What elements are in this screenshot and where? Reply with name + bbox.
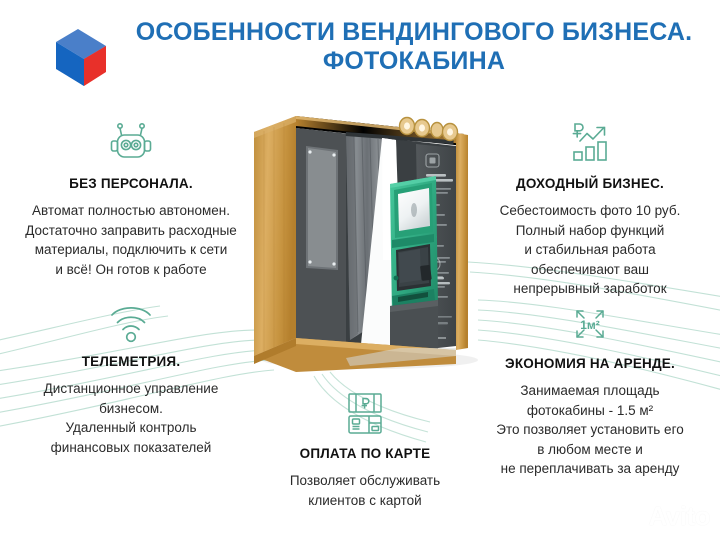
feature-body-line: и всё! Он готов к работе: [6, 260, 256, 280]
feature-body-line: материалы, подключить к сети: [6, 240, 256, 260]
avito-watermark-text: Avito: [648, 501, 710, 532]
feature-body-line: Полный набор функций: [466, 221, 714, 241]
area-arrows-icon: 1м²: [466, 298, 714, 346]
feature-body: Занимаемая площадь фотокабины - 1.5 м² Э…: [466, 381, 714, 479]
company-logo: [44, 26, 118, 92]
feature-body-line: Дистанционное управление: [6, 379, 256, 399]
feature-body-line: фотокабины - 1.5 м²: [466, 401, 714, 421]
feature-body-line: Удаленный контроль: [6, 418, 256, 438]
title-line-1: ОСОБЕННОСТИ ВЕНДИНГОВОГО БИЗНЕСА.: [126, 18, 702, 47]
feature-body-line: финансовых показателей: [6, 438, 256, 458]
feature-body-line: Себестоимость фото 10 руб.: [466, 201, 714, 221]
feature-body-line: Занимаемая площадь: [466, 381, 714, 401]
feature-block-rent: 1м² ЭКОНОМИЯ НА АРЕНДЕ. Занимаемая площа…: [466, 298, 714, 479]
card-terminal-icon: [247, 388, 483, 436]
feature-body-line: Это позволяет установить его: [466, 420, 714, 440]
photo-booth-illustration: [250, 110, 482, 372]
avito-logo-icon: [619, 506, 643, 528]
robot-icon: [6, 118, 256, 166]
feature-body-line: Автомат полностью автономен.: [6, 201, 256, 221]
feature-block-income: ДОХОДНЫЙ БИЗНЕС. Себестоимость фото 10 р…: [466, 118, 714, 299]
wifi-icon: [6, 296, 256, 344]
feature-body-line: не переплачивать за аренду: [466, 459, 714, 479]
feature-body-line: обеспечивают ваш: [466, 260, 714, 280]
title-line-2: ФОТОКАБИНА: [126, 47, 702, 76]
feature-body-line: клиентов с картой: [247, 491, 483, 511]
feature-body-line: Позволяет обслуживать: [247, 471, 483, 491]
feature-title: ТЕЛЕМЕТРИЯ.: [6, 354, 256, 370]
feature-body-line: и стабильная работа: [466, 240, 714, 260]
feature-title: БЕЗ ПЕРСОНАЛА.: [6, 176, 256, 192]
growth-chart-icon: [466, 118, 714, 166]
feature-title: ЭКОНОМИЯ НА АРЕНДЕ.: [466, 356, 714, 372]
feature-body: Автомат полностью автономен. Достаточно …: [6, 201, 256, 279]
header: ОСОБЕННОСТИ ВЕНДИНГОВОГО БИЗНЕСА. ФОТОКА…: [0, 18, 720, 98]
feature-block-telemetry: ТЕЛЕМЕТРИЯ. Дистанционное управление биз…: [6, 296, 256, 457]
feature-body-line: непрерывный заработок: [466, 279, 714, 299]
feature-title: ОПЛАТА ПО КАРТЕ: [247, 446, 483, 462]
feature-body: Дистанционное управление бизнесом. Удале…: [6, 379, 256, 457]
area-icon-label: 1м²: [580, 318, 600, 332]
feature-title: ДОХОДНЫЙ БИЗНЕС.: [466, 176, 714, 192]
avito-watermark: Avito: [619, 501, 710, 532]
infographic-root: ОСОБЕННОСТИ ВЕНДИНГОВОГО БИЗНЕСА. ФОТОКА…: [0, 0, 720, 540]
feature-body-line: в любом месте и: [466, 440, 714, 460]
feature-block-staff: БЕЗ ПЕРСОНАЛА. Автомат полностью автоном…: [6, 118, 256, 279]
feature-body-line: бизнесом.: [6, 399, 256, 419]
feature-block-card-payment: ОПЛАТА ПО КАРТЕ Позволяет обслуживать кл…: [247, 388, 483, 510]
feature-body: Позволяет обслуживать клиентов с картой: [247, 471, 483, 510]
feature-body-line: Достаточно заправить расходные: [6, 221, 256, 241]
feature-body: Себестоимость фото 10 руб. Полный набор …: [466, 201, 714, 299]
page-title: ОСОБЕННОСТИ ВЕНДИНГОВОГО БИЗНЕСА. ФОТОКА…: [126, 18, 702, 76]
